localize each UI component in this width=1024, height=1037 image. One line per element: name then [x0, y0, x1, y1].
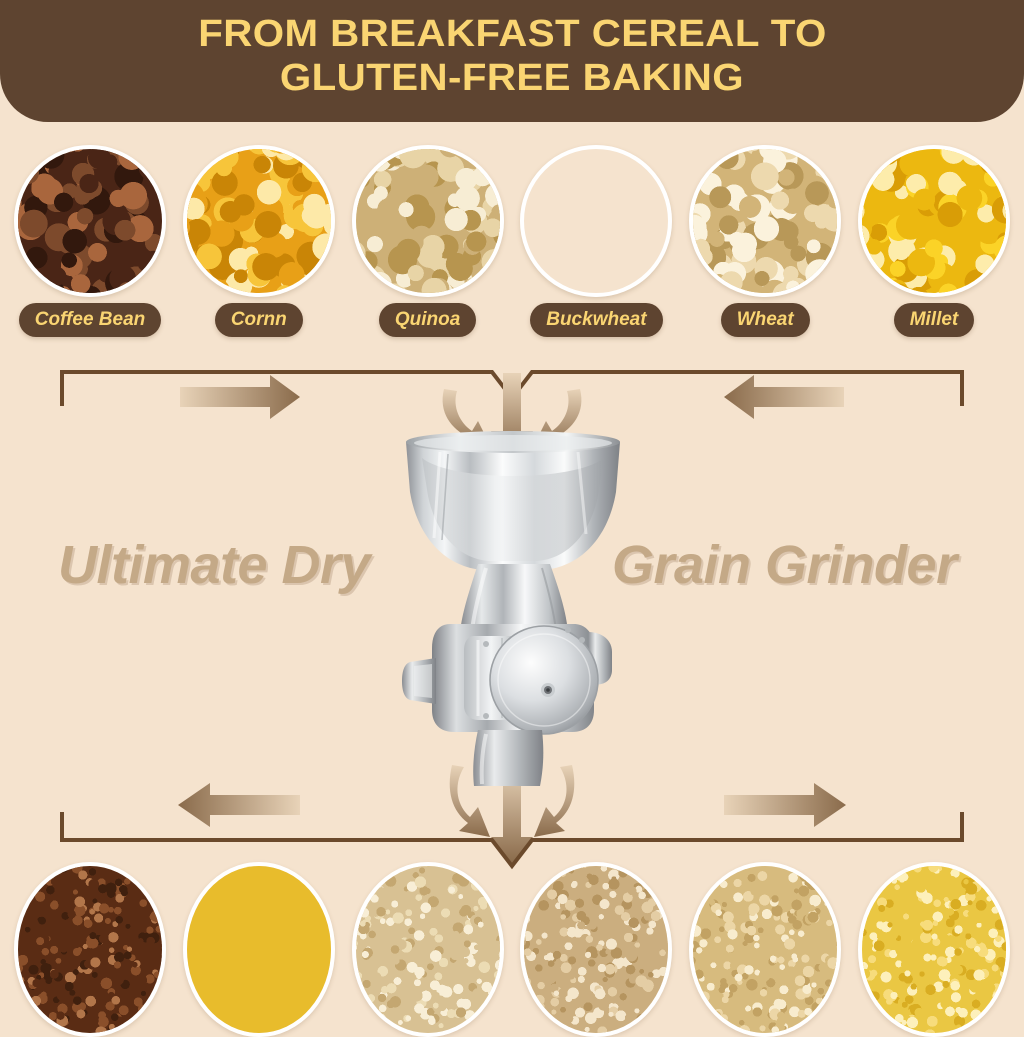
ground-flour-row	[0, 862, 1024, 1037]
wheat-flour-circle	[689, 862, 841, 1037]
grain-item: Cornn	[183, 145, 335, 340]
grain-item: Quinoa	[352, 145, 504, 340]
corn-flour-circle	[183, 862, 335, 1037]
ground-coffee-circle	[14, 862, 166, 1037]
flour-texture	[187, 866, 331, 1033]
millet-seed-circle	[858, 145, 1010, 297]
headline-right: Grain Grinder	[612, 534, 957, 596]
coffee-bean-circle	[14, 145, 166, 297]
input-flow-bracket	[0, 348, 1024, 408]
grain-texture	[356, 149, 500, 293]
headline-left: Ultimate Dry	[58, 534, 370, 596]
grain-item: Wheat	[689, 145, 841, 340]
flour-item	[14, 862, 166, 1037]
millet-flour-circle	[858, 862, 1010, 1037]
flour-texture	[862, 866, 1006, 1033]
header-banner: FROM BREAKFAST CEREAL TO GLUTEN-FREE BAK…	[0, 0, 1024, 122]
grain-label-pill: Cornn	[215, 303, 303, 337]
flour-item	[352, 862, 504, 1037]
flour-item	[858, 862, 1010, 1037]
grain-label-pill: Coffee Bean	[19, 303, 162, 337]
flour-item	[183, 862, 335, 1037]
grain-label-pill: Wheat	[721, 303, 810, 337]
grain-texture	[862, 149, 1006, 293]
quinoa-seed-circle	[352, 145, 504, 297]
flour-item	[689, 862, 841, 1037]
buckwheat-flour-circle	[520, 862, 672, 1037]
grain-texture	[18, 149, 162, 293]
buckwheat-groat-circle	[520, 145, 672, 297]
grain-item: Millet	[858, 145, 1010, 340]
flour-texture	[18, 866, 162, 1033]
grain-label-pill: Buckwheat	[530, 303, 662, 337]
grain-texture	[187, 149, 331, 293]
header-title-line-2: GLUTEN-FREE BAKING	[280, 56, 744, 100]
corn-kernel-circle	[183, 145, 335, 297]
flour-item	[520, 862, 672, 1037]
output-flow-bracket	[0, 810, 1024, 870]
quinoa-flour-circle	[352, 862, 504, 1037]
grain-label-pill: Millet	[894, 303, 975, 337]
grain-texture	[693, 149, 837, 293]
wheat-grain-circle	[689, 145, 841, 297]
header-title-line-1: FROM BREAKFAST CEREAL TO	[198, 12, 827, 56]
grain-item: Coffee Bean	[14, 145, 166, 340]
flour-texture	[693, 866, 837, 1033]
grain-grinder-image	[382, 418, 644, 790]
grain-label-pill: Quinoa	[379, 303, 476, 337]
grain-texture	[524, 149, 668, 293]
grain-item: Buckwheat	[520, 145, 672, 340]
raw-grains-row: Coffee BeanCornnQuinoaBuckwheatWheatMill…	[0, 145, 1024, 340]
flour-texture	[524, 866, 668, 1033]
flour-texture	[356, 866, 500, 1033]
